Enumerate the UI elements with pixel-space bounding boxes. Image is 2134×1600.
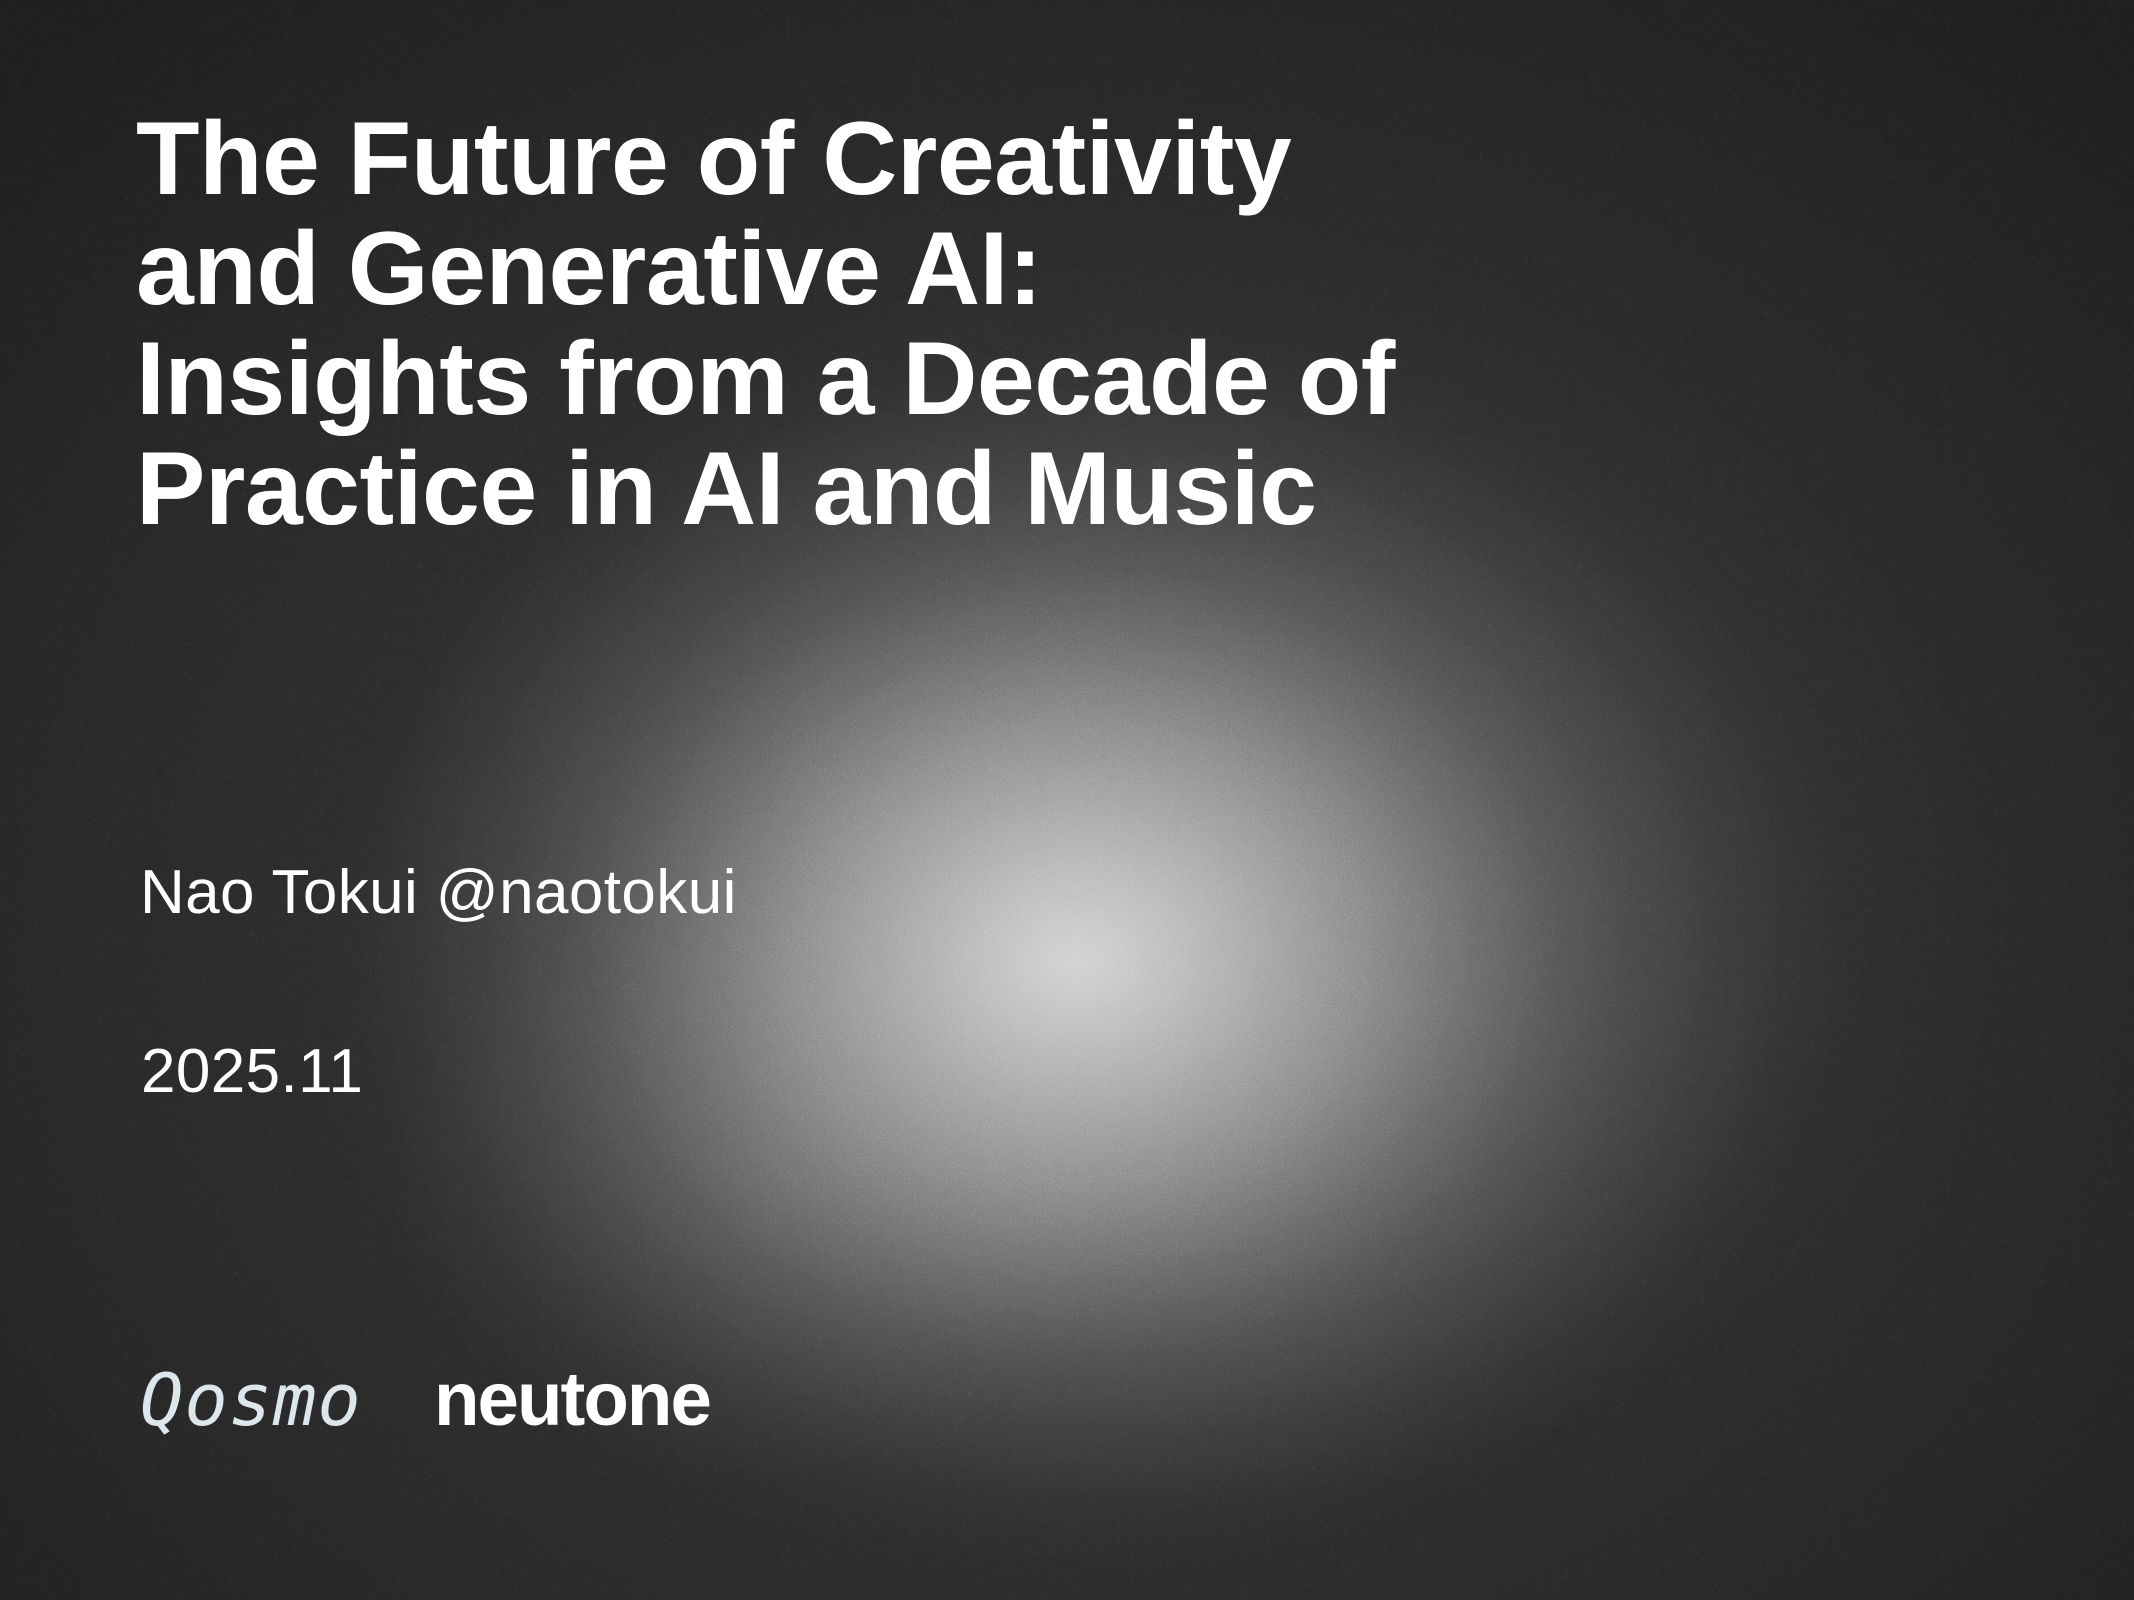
- slide-content: The Future of Creativity and Generative …: [0, 0, 2134, 1600]
- logo-row: Qosmo neutone: [140, 1360, 715, 1440]
- title-line-3: Insights from a Decade of: [136, 324, 2016, 434]
- title-line-1: The Future of Creativity: [136, 104, 2016, 214]
- title-slide: The Future of Creativity and Generative …: [0, 0, 2134, 1600]
- neutone-logo: neutone: [434, 1360, 710, 1440]
- title-line-4: Practice in AI and Music: [136, 434, 2016, 544]
- title-line-2: and Generative AI:: [136, 214, 2016, 324]
- date-label: 2025.11: [141, 1037, 363, 1107]
- page-title: The Future of Creativity and Generative …: [136, 104, 2016, 544]
- qosmo-logo: Qosmo: [140, 1360, 362, 1440]
- author-byline: Nao Tokui @naotokui: [140, 858, 737, 928]
